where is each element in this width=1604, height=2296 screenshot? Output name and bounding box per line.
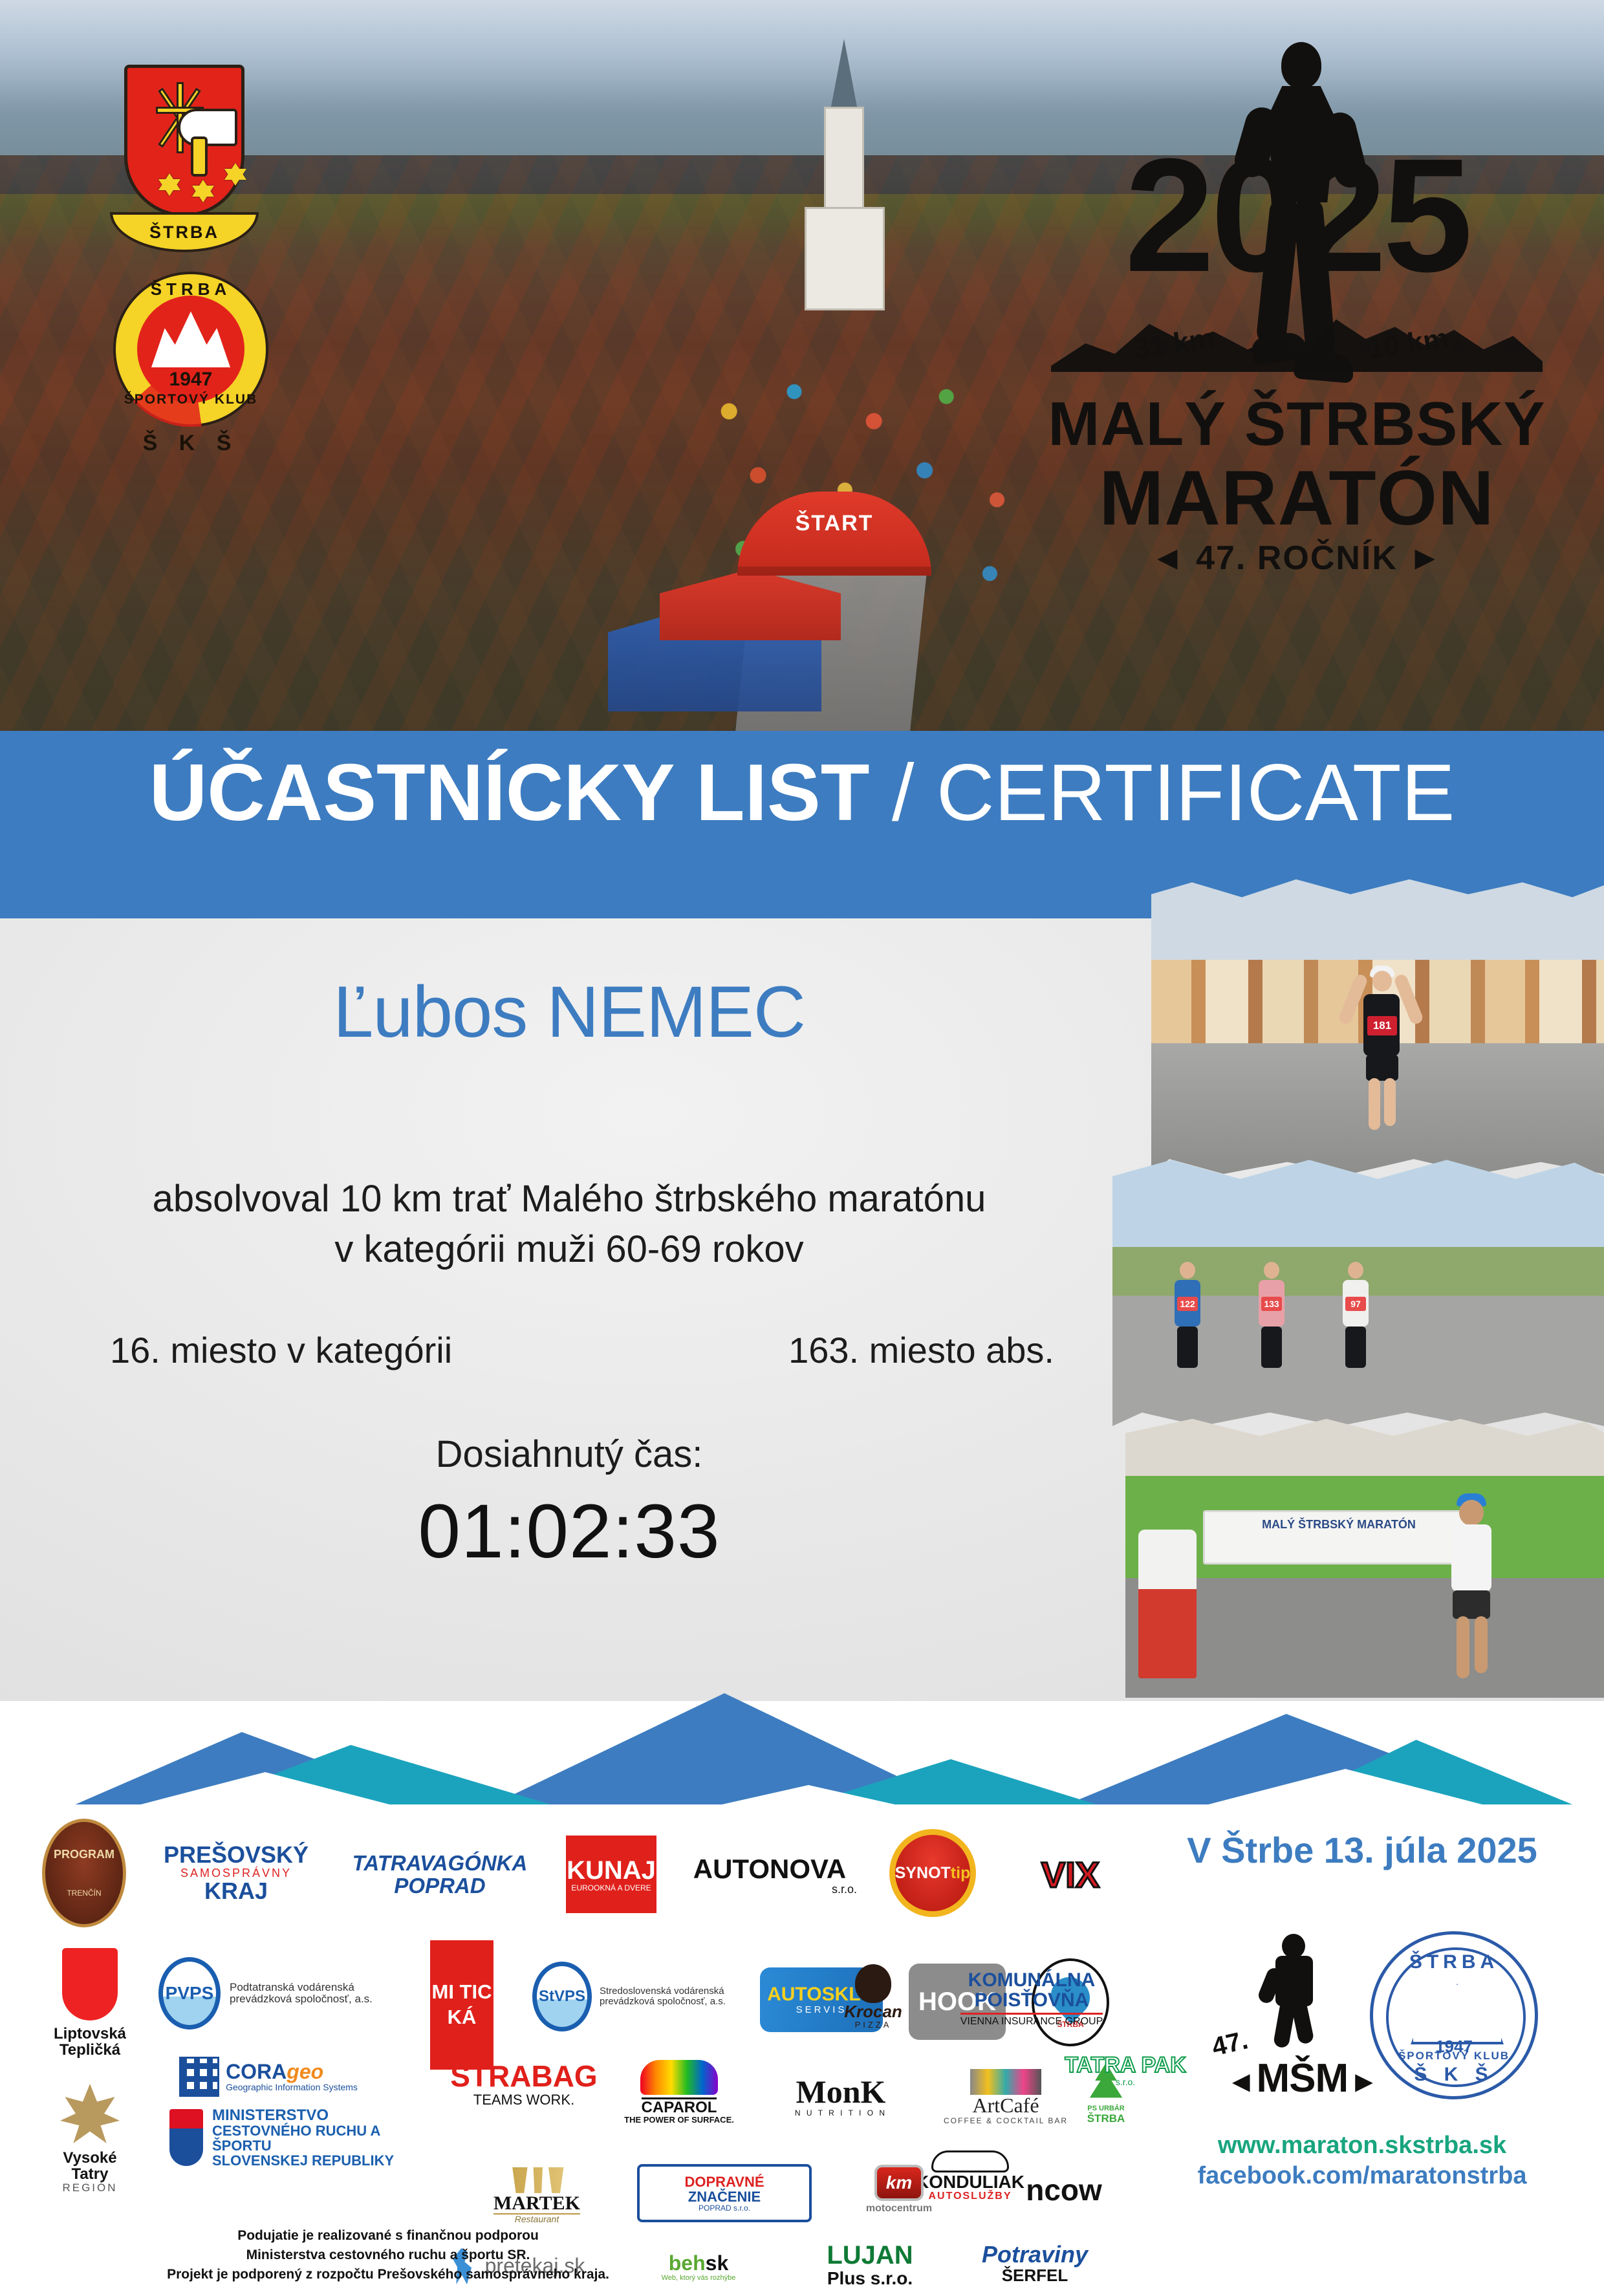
runner-figure: 97 <box>1332 1251 1378 1381</box>
bib-number: 122 <box>1177 1297 1198 1311</box>
place-absolute: 163. miesto abs. <box>788 1329 1054 1371</box>
sponsor-logo[interactable]: PREŠOVSKÝ SAMOSPRÁVNY KRAJ <box>155 1834 317 1912</box>
club-stamp-bottom: Š K Š <box>1373 2064 1535 2086</box>
facebook-link[interactable]: facebook.com/maratonstrba <box>1149 2162 1576 2190</box>
sponsor-logo[interactable]: Liptovská Tepličká <box>47 1942 133 2064</box>
sponsor-logo[interactable]: ArtCafé COFFEE & COCKTAIL BAR <box>941 2058 1070 2136</box>
sponsor-logo[interactable]: STRABAG TEAMS WORK. <box>450 2053 598 2115</box>
placement-row: 16. miesto v kategórii 163. miesto abs. <box>0 1329 1164 1371</box>
finisher-figure: 181 <box>1345 954 1416 1135</box>
club-stamp-top: ŠTRBA <box>1373 1951 1535 1973</box>
title-banner: ÚČASTNÍCKY LIST / CERTIFICATE <box>0 731 1604 893</box>
logo-year: 2025 <box>1025 149 1568 281</box>
photo-finisher: 181 <box>1151 876 1604 1174</box>
sponsor-logo[interactable]: Vysoké Tatry REGIÓN <box>47 2079 133 2199</box>
description-line-2: v kategórii muži 60-69 rokov <box>0 1228 1138 1271</box>
sponsor-logo[interactable]: StVPS Stredoslovenská vodárenská prevádz… <box>527 1955 741 2039</box>
sponsor-logo[interactable]: SYNOTtip <box>889 1829 976 1917</box>
church-icon <box>802 39 886 310</box>
sponsor-logo[interactable]: KUNAJ EUROOKNÁ A DVERE <box>566 1836 656 1913</box>
disclaimer-line-3: Projekt je podporený z rozpočtu Prešovsk… <box>39 2265 737 2284</box>
title-bold-part: ÚČASTNÍCKY LIST <box>149 748 870 838</box>
sponsor-logo[interactable]: CORAgeo Geographic Information Systems <box>152 2048 385 2106</box>
coa-ribbon: ŠTRBA <box>110 212 259 252</box>
star-icon <box>158 173 180 190</box>
sponsor-logo[interactable]: AUTONOVA s.r.o. <box>682 1833 857 1917</box>
marathon-logo: 2025 31 km 10 km MALÝ ŠTRBSKÝ MARATÓN 47… <box>1025 36 1568 572</box>
title-light-part: / CERTIFICATE <box>869 748 1455 838</box>
stars-group <box>155 162 252 194</box>
msm-tag: MŠM <box>1226 2055 1378 2101</box>
sponsor-logo[interactable]: Krocan PIZZA <box>828 1955 918 2039</box>
logo-name-line2: MARATÓN <box>1025 453 1568 543</box>
sponsor-logo[interactable]: MARTEK Restaurant <box>456 2160 618 2231</box>
star-icon <box>192 180 214 197</box>
sponsor-logo[interactable]: PROGRAM TRENČÍN <box>42 1819 126 1927</box>
place-in-category: 16. miesto v kategórii <box>110 1329 452 1371</box>
emblem-bottom-text: ŠPORTOVÝ KLUB <box>103 392 278 407</box>
runner-stamp-icon <box>1263 1934 1325 2044</box>
logo-edition: 47. ROČNÍK <box>1025 539 1568 578</box>
disclaimer-line-2: Ministerstva cestovného ruchu a športu S… <box>39 2246 737 2265</box>
sport-club-emblem: ŠTRBA 1947 ŠPORTOVÝ KLUB Š K Š <box>103 272 278 466</box>
page-title: ÚČASTNÍCKY LIST / CERTIFICATE <box>0 753 1604 833</box>
coat-of-arms-strba: ŠTRBA <box>110 65 259 252</box>
emblem-year: 1947 <box>103 369 278 391</box>
sponsor-logo[interactable]: LUJAN Plus s.r.o. <box>805 2234 935 2296</box>
sponsor-logo[interactable]: Potraviny ŠERFEL <box>954 2233 1116 2295</box>
footer-right-column: V Štrbe 13. júla 2025 47. MŠM ŠTRBA 1947… <box>1149 1804 1576 2257</box>
logo-name-line1: MALÝ ŠTRBSKÝ <box>1025 389 1568 460</box>
event-date: V Štrbe 13. júla 2025 <box>1149 1829 1576 1871</box>
sponsor-logo[interactable]: PVPS Podtatranská vodárenská prevádzková… <box>152 1955 398 2032</box>
website-link[interactable]: www.maraton.skstrba.sk <box>1149 2132 1576 2160</box>
photo-collage: 181 122 133 97 MALÝ ŠTRBSKÝ MARATÓN <box>1112 876 1604 1698</box>
sponsor-logo[interactable]: TATRAVAGÓNKA POPRAD <box>346 1839 534 1911</box>
funding-disclaimer: Podujatie je realizované s finančnou pod… <box>39 2226 737 2284</box>
sponsor-logo[interactable]: MI TIC KÁ <box>430 1940 493 2070</box>
emblem-top-text: ŠTRBA <box>103 279 278 299</box>
contact-links: www.maraton.skstrba.sk facebook.com/mara… <box>1149 2132 1576 2190</box>
time-label: Dosiahnutý čas: <box>0 1433 1138 1476</box>
star-icon <box>224 163 246 180</box>
emblem-abbreviation: Š K Š <box>103 431 278 456</box>
sponsor-logo[interactable]: VIX <box>1012 1833 1129 1917</box>
sponsor-logo[interactable]: km motocentrum <box>838 2154 960 2225</box>
sponsor-logo[interactable]: DOPRAVNÉ ZNAČENIE POPRAD s.r.o. <box>637 2164 812 2222</box>
finish-time: 01:02:33 <box>0 1488 1138 1576</box>
photo-finish-line: MALÝ ŠTRBSKÝ MARATÓN <box>1125 1413 1604 1698</box>
sponsor-logo[interactable]: ncow <box>1006 2159 1122 2221</box>
sponsor-logo-grid: PROGRAM TRENČÍN PREŠOVSKÝ SAMOSPRÁVNY KR… <box>36 1804 1135 2218</box>
sponsor-logo[interactable]: CAPAROL THE POWER OF SURFACE. <box>618 2050 741 2134</box>
club-stamp-middle: ŠPORTOVÝ KLUB <box>1373 2050 1535 2063</box>
disclaimer-line-1: Podujatie je realizované s finančnou pod… <box>39 2226 737 2246</box>
description-line-1: absolvoval 10 km trať Malého štrbského m… <box>0 1177 1138 1220</box>
msm-stamp: 47. MŠM <box>1208 1934 1370 2096</box>
shield-shape <box>124 65 244 217</box>
bib-number: 181 <box>1367 1016 1397 1035</box>
runner-figure: 122 <box>1164 1251 1209 1381</box>
runner-figure: 133 <box>1248 1251 1294 1381</box>
club-stamp: ŠTRBA 1947 ŠPORTOVÝ KLUB Š K Š <box>1370 1931 1538 2099</box>
coa-ribbon-text: ŠTRBA <box>149 222 219 243</box>
sponsor-logo[interactable]: MonK N U T R I T I O N <box>766 2061 915 2132</box>
participant-name: Ľubos NEMEC <box>0 970 1138 1054</box>
winner-figure <box>1429 1484 1513 1685</box>
photo-runners-group: 122 133 97 <box>1112 1154 1604 1426</box>
bib-number: 133 <box>1261 1297 1282 1311</box>
bib-number: 97 <box>1345 1297 1366 1311</box>
footer: PROGRAM TRENČÍN PREŠOVSKÝ SAMOSPRÁVNY KR… <box>0 1804 1604 2269</box>
arm-icon <box>178 109 237 146</box>
sponsor-logo[interactable]: KOMUNÁLNA POISŤOVŇA VIENNA INSURANCE GRO… <box>941 1958 1122 2039</box>
